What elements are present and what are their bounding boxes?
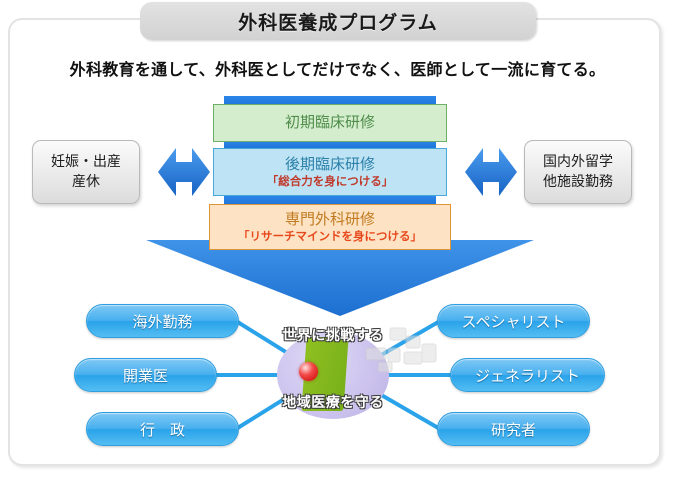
double-arrow-left-icon: [156, 142, 212, 202]
career-pill-specialist[interactable]: スペシャリスト: [437, 304, 590, 338]
double-arrow-right-icon: [463, 142, 519, 202]
page-title: 外科医養成プログラム: [238, 8, 437, 35]
side-box-line1: 国内外留学: [543, 152, 613, 172]
side-box-maternity: 妊娠・出産 産休: [32, 140, 140, 204]
career-pill-private-practice[interactable]: 開業医: [74, 358, 217, 392]
side-box-line1: 妊娠・出産: [51, 152, 121, 172]
step-label: 初期臨床研修: [285, 114, 375, 131]
title-tab: 外科医養成プログラム: [140, 2, 536, 40]
location-dot-icon: [299, 362, 318, 381]
step-label: 専門外科研修: [285, 211, 375, 228]
step-box-specialist-training: 専門外科研修 「リサーチマインドを身につける」: [209, 204, 451, 250]
career-pill-administration[interactable]: 行 政: [86, 412, 239, 446]
center-bottom-text: 地域医療を守る: [233, 392, 433, 412]
side-box-line2: 他施設勤務: [543, 172, 613, 192]
side-box-line2: 産休: [72, 172, 100, 192]
step-caption: 「リサーチマインドを身につける」: [238, 230, 422, 243]
career-pill-generalist[interactable]: ジェネラリスト: [450, 358, 605, 392]
step-box-initial-training: 初期臨床研修: [213, 104, 447, 142]
career-pill-researcher[interactable]: 研究者: [437, 412, 590, 446]
step-box-later-training: 後期臨床研修 「総合力を身につける」: [213, 148, 447, 196]
diagram-canvas: 初期臨床研修 後期臨床研修 「総合力を身につける」 専門外科研修 「リサーチマイ…: [0, 0, 675, 480]
side-box-study-abroad: 国内外留学 他施設勤務: [524, 140, 632, 204]
subtitle-text: 外科教育を通して、外科医としてだけでなく、医師として一流に育てる。: [0, 56, 675, 80]
career-pill-overseas[interactable]: 海外勤務: [86, 304, 239, 338]
center-top-text: 世界に挑戦する: [233, 325, 433, 345]
step-label: 後期臨床研修: [285, 156, 375, 173]
step-caption: 「総合力を身につける」: [267, 175, 394, 188]
